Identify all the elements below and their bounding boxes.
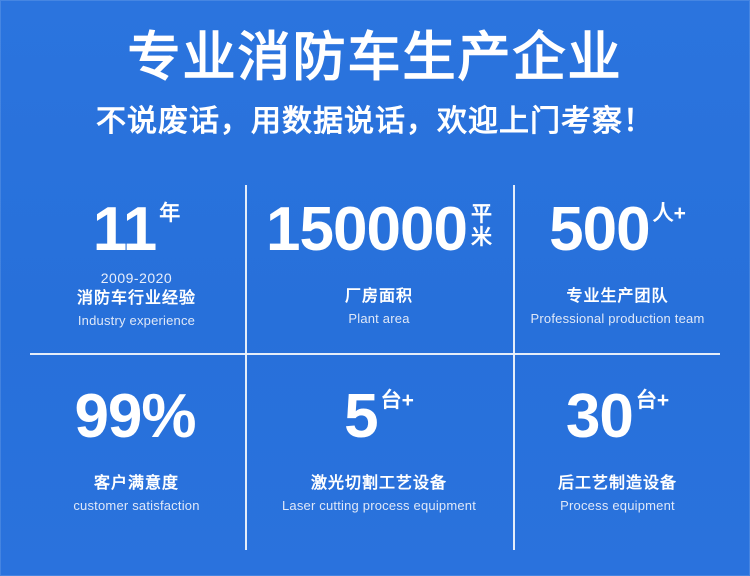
stat-number-row: 30 台+ xyxy=(566,386,669,448)
stat-unit-line-2: 米 xyxy=(471,226,492,249)
stat-en-label: Industry experience xyxy=(78,312,195,329)
stat-en-label: Professional production team xyxy=(531,310,705,327)
stat-unit: 台+ xyxy=(381,390,414,411)
stat-number-row: 11 年 xyxy=(93,199,181,261)
stat-cell-industry-experience: 11 年 2009-2020 消防车行业经验 Industry experien… xyxy=(28,185,245,354)
stat-en-label: Process equipment xyxy=(560,497,675,514)
stat-number: 11 xyxy=(93,199,157,261)
stat-cn-label: 客户满意度 xyxy=(94,474,179,494)
stat-number: 500 xyxy=(549,199,649,261)
stat-range: 2009-2020 xyxy=(101,270,172,286)
stat-cn-label: 专业生产团队 xyxy=(566,287,668,307)
stat-unit-line-1: 平 xyxy=(471,203,492,226)
sub-title: 不说废话，用数据说话，欢迎上门考察！ xyxy=(0,90,750,142)
promo-banner: 专业消防车生产企业 不说废话，用数据说话，欢迎上门考察！ 11 年 2009-2… xyxy=(0,0,750,576)
stat-unit: 年 xyxy=(159,203,180,224)
main-title: 专业消防车生产企业 xyxy=(0,0,750,90)
stat-unit-stacked: 平 米 xyxy=(471,203,492,249)
stats-grid: 11 年 2009-2020 消防车行业经验 Industry experien… xyxy=(28,185,722,551)
stat-cn-label: 激光切割工艺设备 xyxy=(311,474,447,494)
stat-cell-process-equipment: 30 台+ 后工艺制造设备 Process equipment xyxy=(513,354,722,551)
stat-number: 99% xyxy=(74,386,195,448)
stat-en-label: customer satisfaction xyxy=(73,497,199,514)
stat-number: 150000 xyxy=(266,199,467,261)
stat-number-row: 150000 平 米 xyxy=(266,199,492,261)
stat-unit: 人+ xyxy=(653,203,686,224)
stat-cn-label: 厂房面积 xyxy=(345,287,413,307)
stat-number: 5 xyxy=(344,386,377,448)
stat-en-label: Laser cutting process equipment xyxy=(282,497,476,514)
stat-number-row: 5 台+ xyxy=(344,386,414,448)
stat-number-row: 99% xyxy=(74,386,198,448)
stat-en-label: Plant area xyxy=(348,310,409,327)
stat-cn-label: 后工艺制造设备 xyxy=(558,474,677,494)
stat-number: 30 xyxy=(566,386,633,448)
stat-cell-production-team: 500 人+ 专业生产团队 Professional production te… xyxy=(513,185,722,354)
banner-header: 专业消防车生产企业 不说废话，用数据说话，欢迎上门考察！ xyxy=(0,0,750,142)
stat-unit: 台+ xyxy=(636,390,669,411)
stat-cn-label: 消防车行业经验 xyxy=(77,289,196,309)
stat-cell-plant-area: 150000 平 米 厂房面积 Plant area xyxy=(245,185,513,354)
stat-cell-customer-satisfaction: 99% 客户满意度 customer satisfaction xyxy=(28,354,245,551)
stat-number-row: 500 人+ xyxy=(549,199,686,261)
stat-cell-laser-cutting-equipment: 5 台+ 激光切割工艺设备 Laser cutting process equi… xyxy=(245,354,513,551)
